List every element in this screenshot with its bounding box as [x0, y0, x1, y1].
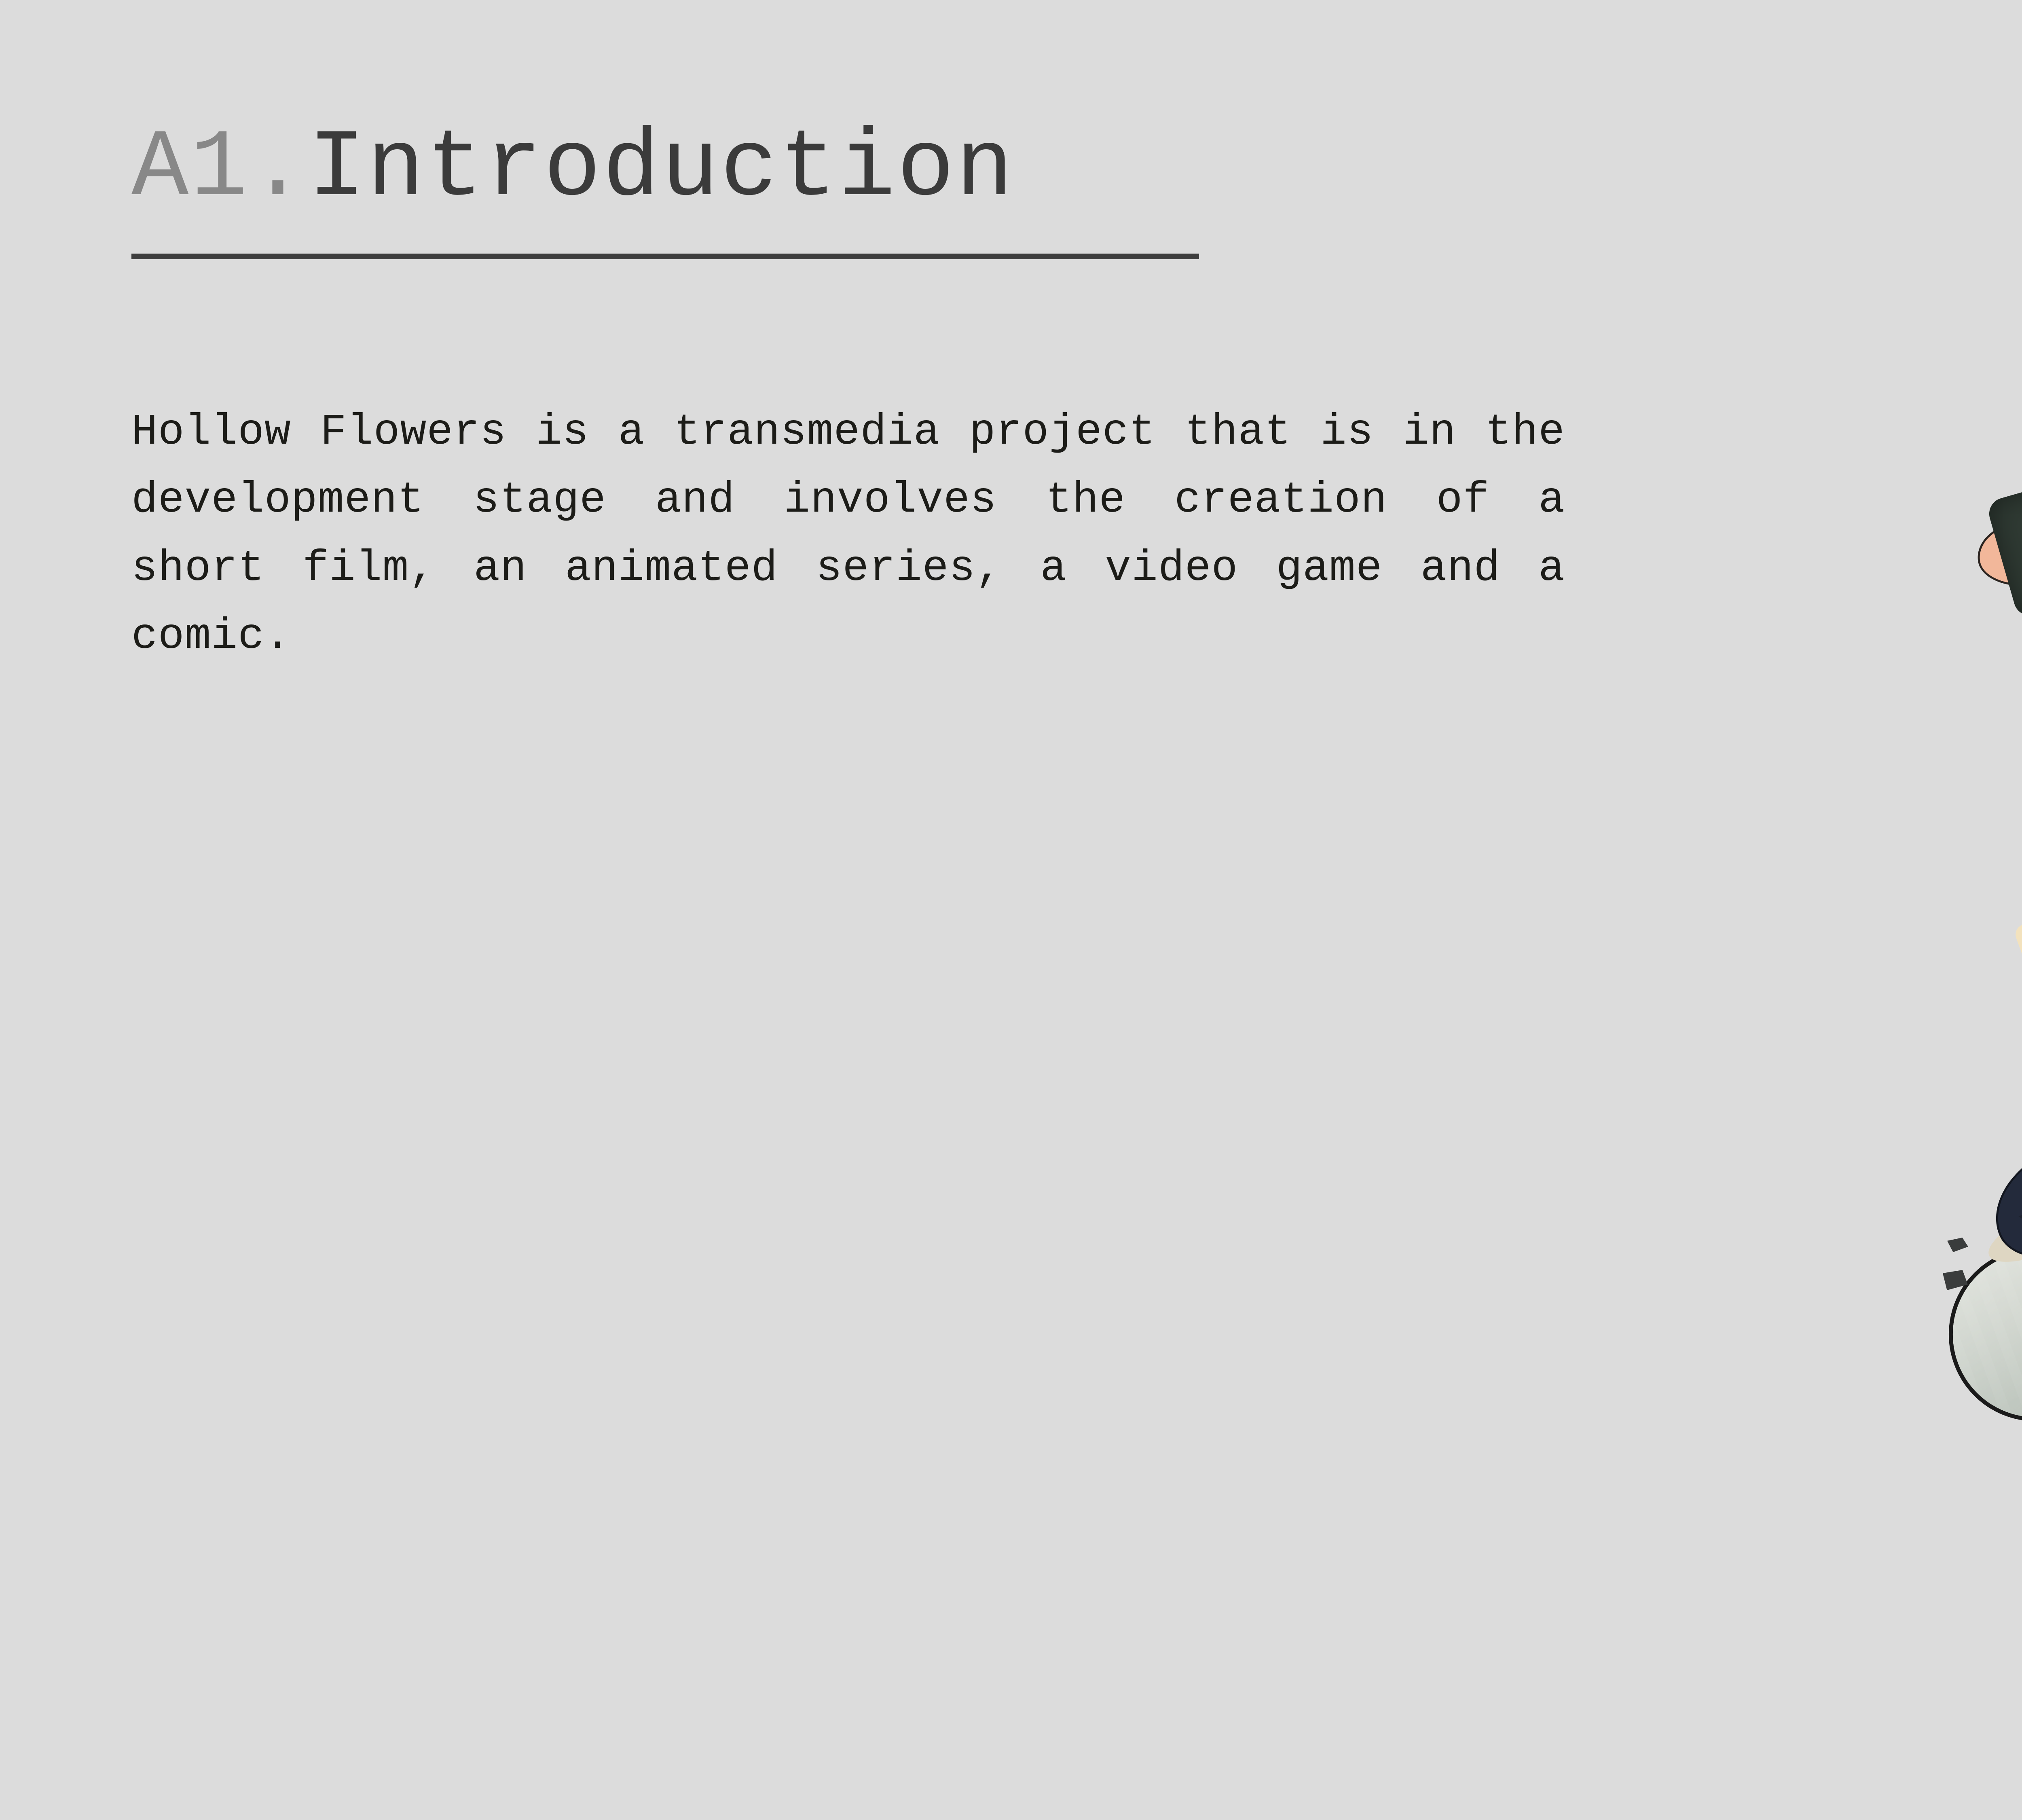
left-shin — [2013, 899, 2022, 1171]
page-title-number: A1. — [131, 115, 308, 223]
text-column: A1.Introduction — [131, 121, 1571, 217]
skateboard — [1924, 1047, 2022, 1533]
slide-canvas: A1.Introduction Hollow Flowers is a tran… — [0, 0, 2022, 1820]
illustration-artwork: XB MEOW — [1642, 24, 2022, 1796]
intro-paragraph: Hollow Flowers is a transmedia project t… — [131, 398, 1565, 671]
page-title: A1.Introduction — [131, 121, 1571, 217]
title-underline-rule — [131, 254, 1199, 259]
left-sleeve — [1986, 440, 2022, 620]
debris-chunk-1 — [1947, 1238, 1968, 1252]
page-title-text: Introduction — [308, 115, 1015, 223]
